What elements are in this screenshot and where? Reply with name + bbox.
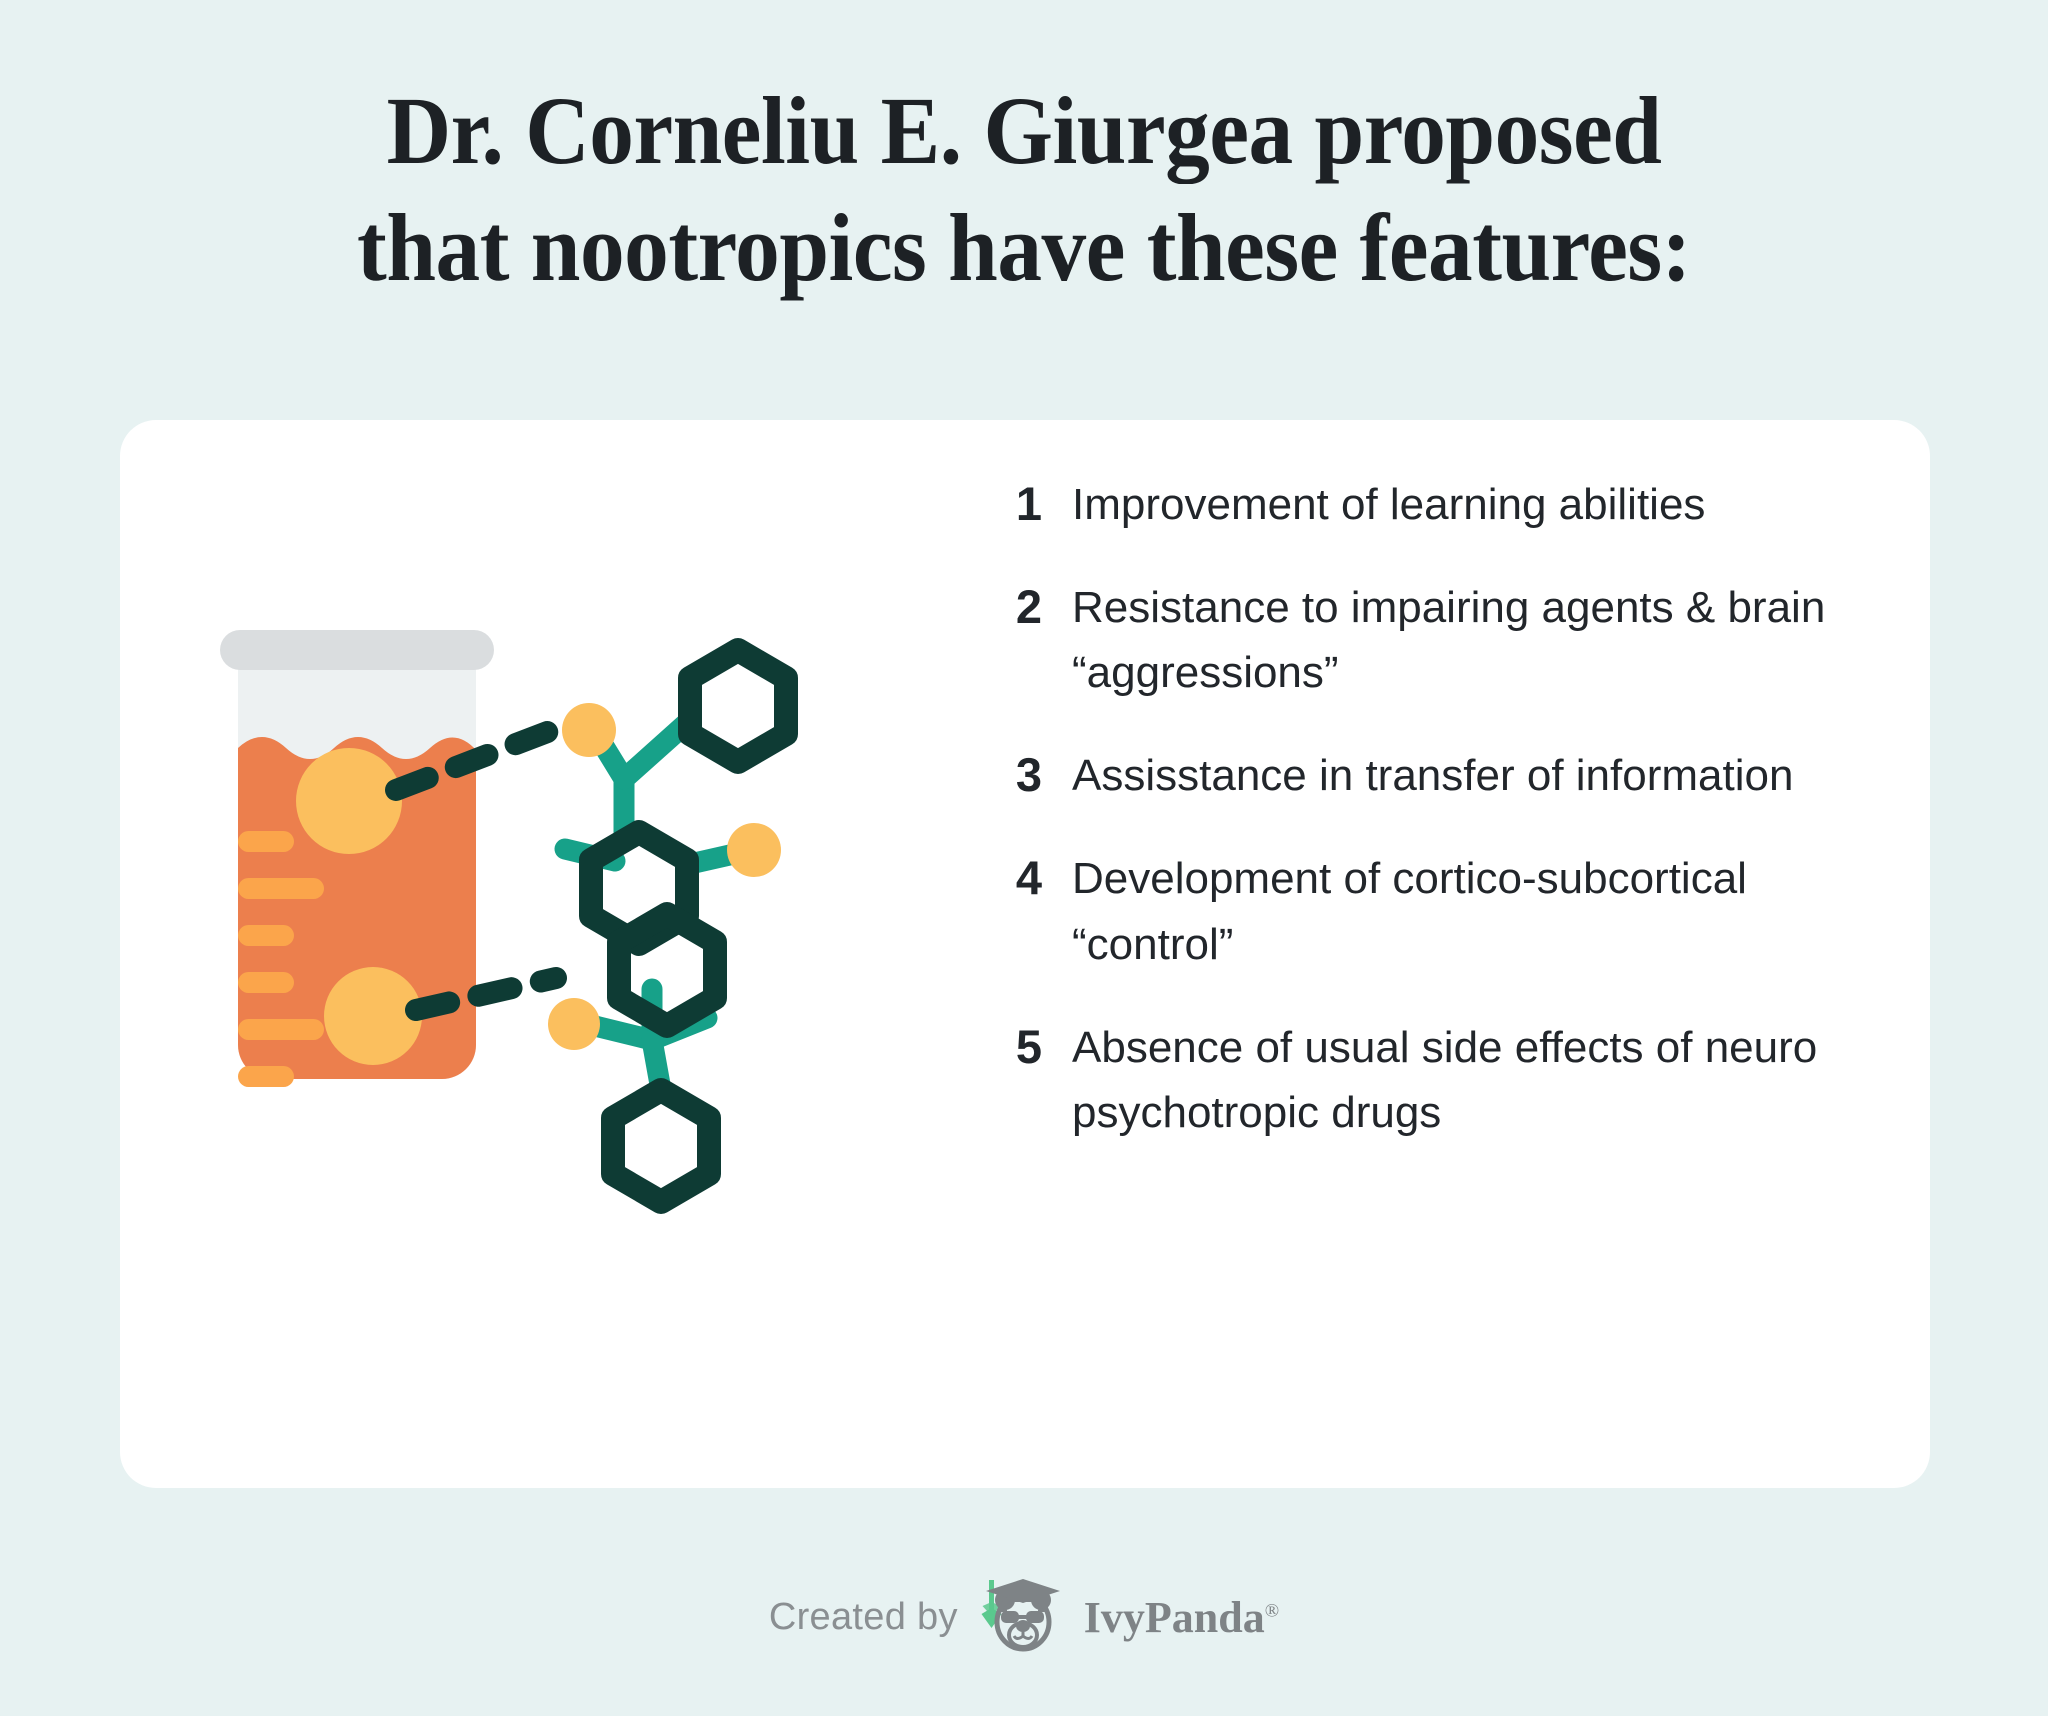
- created-by-label: Created by: [769, 1596, 958, 1639]
- features-list: 1 Improvement of learning abilities 2 Re…: [980, 472, 1860, 1145]
- molecule-structure: [548, 650, 786, 1202]
- brand-name: IvyPanda®: [1084, 1592, 1279, 1643]
- ivypanda-panda-logo: [978, 1578, 1064, 1656]
- title-line-1: Dr. Corneliu E. Giurgea proposed: [150, 72, 1898, 189]
- content-card: 1 Improvement of learning abilities 2 Re…: [120, 420, 1930, 1488]
- feature-number: 4: [980, 846, 1042, 911]
- feature-item: 4 Development of cortico-subcortical “co…: [980, 846, 1860, 976]
- feature-number: 5: [980, 1015, 1042, 1080]
- feature-text: Resistance to impairing agents & brain “…: [1072, 575, 1860, 705]
- feature-number: 1: [980, 472, 1042, 537]
- page-title: Dr. Corneliu E. Giurgea proposed that no…: [84, 72, 1964, 306]
- feature-item: 1 Improvement of learning abilities: [980, 472, 1860, 537]
- liquid-bubble: [296, 748, 402, 854]
- trademark-symbol: ®: [1265, 1600, 1279, 1621]
- feature-text: Assisstance in transfer of information: [1072, 743, 1860, 808]
- feature-number: 2: [980, 575, 1042, 640]
- beaker-cap: [220, 630, 494, 670]
- feature-text: Absence of usual side effects of neuro p…: [1072, 1015, 1860, 1145]
- infographic-page: Dr. Corneliu E. Giurgea proposed that no…: [0, 0, 2048, 1716]
- feature-item: 3 Assisstance in transfer of information: [980, 743, 1860, 808]
- feature-number: 3: [980, 743, 1042, 808]
- beaker-molecule-illustration: [220, 620, 880, 1240]
- title-line-2: that nootropics have these features:: [150, 189, 1898, 306]
- brand-text: IvyPanda: [1084, 1593, 1265, 1642]
- feature-item: 2 Resistance to impairing agents & brain…: [980, 575, 1860, 705]
- feature-text: Improvement of learning abilities: [1072, 472, 1860, 537]
- benzene-ring: [591, 650, 786, 1202]
- feature-text: Development of cortico-subcortical “cont…: [1072, 846, 1860, 976]
- footer-attribution: Created by: [0, 1578, 2048, 1656]
- feature-item: 5 Absence of usual side effects of neuro…: [980, 1015, 1860, 1145]
